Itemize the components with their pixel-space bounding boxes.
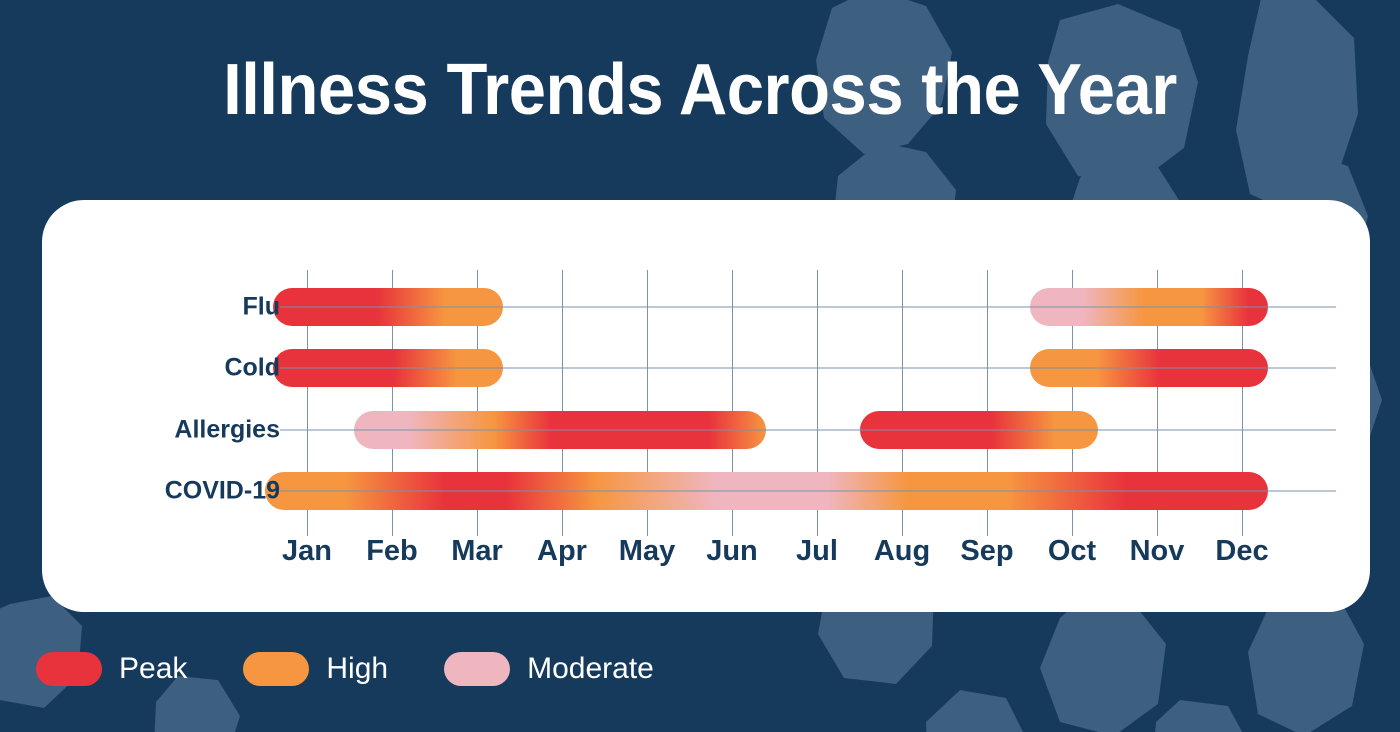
- legend-swatch-moderate: [444, 652, 510, 686]
- chart-plot-area: FluColdAllergiesCOVID-19 JanFebMarAprMay…: [42, 200, 1370, 612]
- legend-label-moderate: Moderate: [527, 654, 654, 684]
- legend-swatch-high: [243, 652, 309, 686]
- legend-label-peak: Peak: [119, 654, 187, 684]
- month-label-mar: Mar: [432, 537, 522, 566]
- page-title: Illness Trends Across the Year: [49, 54, 1351, 126]
- legend-item-peak[interactable]: Peak: [36, 652, 187, 686]
- month-label-jun: Jun: [687, 537, 777, 566]
- month-label-feb: Feb: [347, 537, 437, 566]
- legend-swatch-peak: [36, 652, 102, 686]
- month-label-dec: Dec: [1197, 537, 1287, 566]
- month-label-nov: Nov: [1112, 537, 1202, 566]
- month-label-may: May: [602, 537, 692, 566]
- month-label-aug: Aug: [857, 537, 947, 566]
- legend-label-high: High: [326, 654, 388, 684]
- legend-item-moderate[interactable]: Moderate: [444, 652, 654, 686]
- chart-legend: PeakHighModerate: [36, 652, 654, 686]
- chart-month-axis: JanFebMarAprMayJunJulAugSepOctNovDec: [42, 200, 1370, 612]
- month-label-jul: Jul: [772, 537, 862, 566]
- legend-item-high[interactable]: High: [243, 652, 388, 686]
- month-label-oct: Oct: [1027, 537, 1117, 566]
- month-label-jan: Jan: [262, 537, 352, 566]
- month-label-sep: Sep: [942, 537, 1032, 566]
- chart-card: FluColdAllergiesCOVID-19 JanFebMarAprMay…: [42, 200, 1370, 612]
- month-label-apr: Apr: [517, 537, 607, 566]
